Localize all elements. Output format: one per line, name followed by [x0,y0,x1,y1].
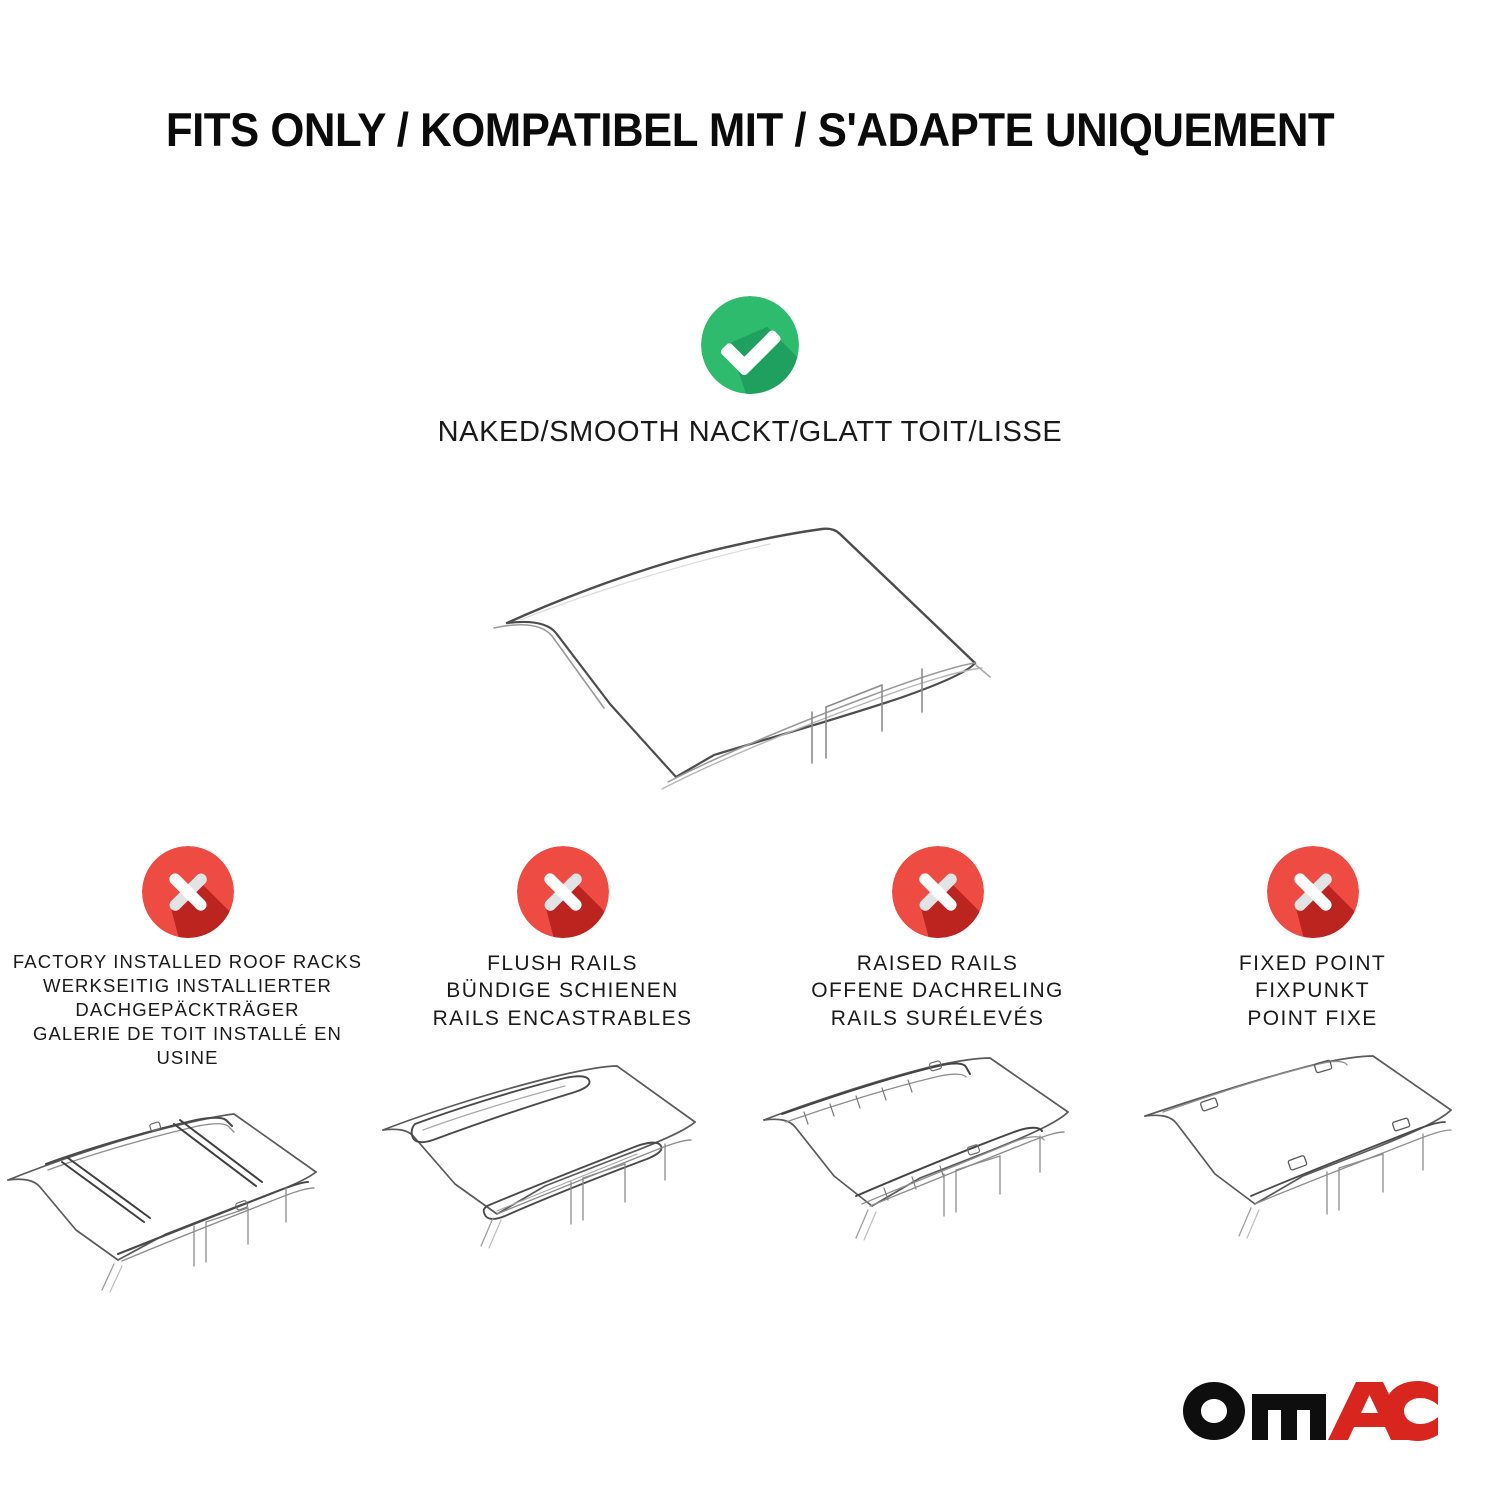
x-circle-icon [517,846,609,938]
x-circle-icon [142,846,234,938]
car-roof-fixed-point-illustration [1125,1046,1500,1256]
not-compatible-item-flush-rails: FLUSH RAILS BÜNDIGE SCHIENEN RAILS ENCAS… [375,846,750,1256]
car-roof-naked-smooth-illustration [470,512,1030,812]
not-compatible-item-factory-racks: FACTORY INSTALLED ROOF RACKS WERKSEITIG … [0,846,375,1294]
x-circle-icon [1267,846,1359,938]
car-roof-flush-rails-illustration [375,1046,750,1256]
not-compatible-label: RAISED RAILS OFFENE DACHRELING RAILS SUR… [750,950,1125,1032]
approved-section: NAKED/SMOOTH NACKT/GLATT TOIT/LISSE [0,296,1500,452]
not-compatible-grid: FACTORY INSTALLED ROOF RACKS WERKSEITIG … [0,846,1500,1294]
approved-label: NAKED/SMOOTH NACKT/GLATT TOIT/LISSE [0,414,1500,452]
car-roof-raised-rails-illustration [750,1046,1125,1256]
car-roof-factory-racks-illustration [0,1084,375,1294]
omac-logo [1180,1380,1440,1442]
page-title: FITS ONLY / KOMPATIBEL MIT / S'ADAPTE UN… [53,106,1448,153]
not-compatible-item-fixed-point: FIXED POINT FIXPUNKT POINT FIXE [1125,846,1500,1256]
x-circle-icon [892,846,984,938]
compatibility-infographic: FITS ONLY / KOMPATIBEL MIT / S'ADAPTE UN… [0,0,1500,1500]
not-compatible-label: FACTORY INSTALLED ROOF RACKS WERKSEITIG … [0,950,375,1070]
not-compatible-label: FLUSH RAILS BÜNDIGE SCHIENEN RAILS ENCAS… [375,950,750,1032]
not-compatible-item-raised-rails: RAISED RAILS OFFENE DACHRELING RAILS SUR… [750,846,1125,1256]
check-circle-icon [701,296,799,394]
not-compatible-label: FIXED POINT FIXPUNKT POINT FIXE [1125,950,1500,1032]
